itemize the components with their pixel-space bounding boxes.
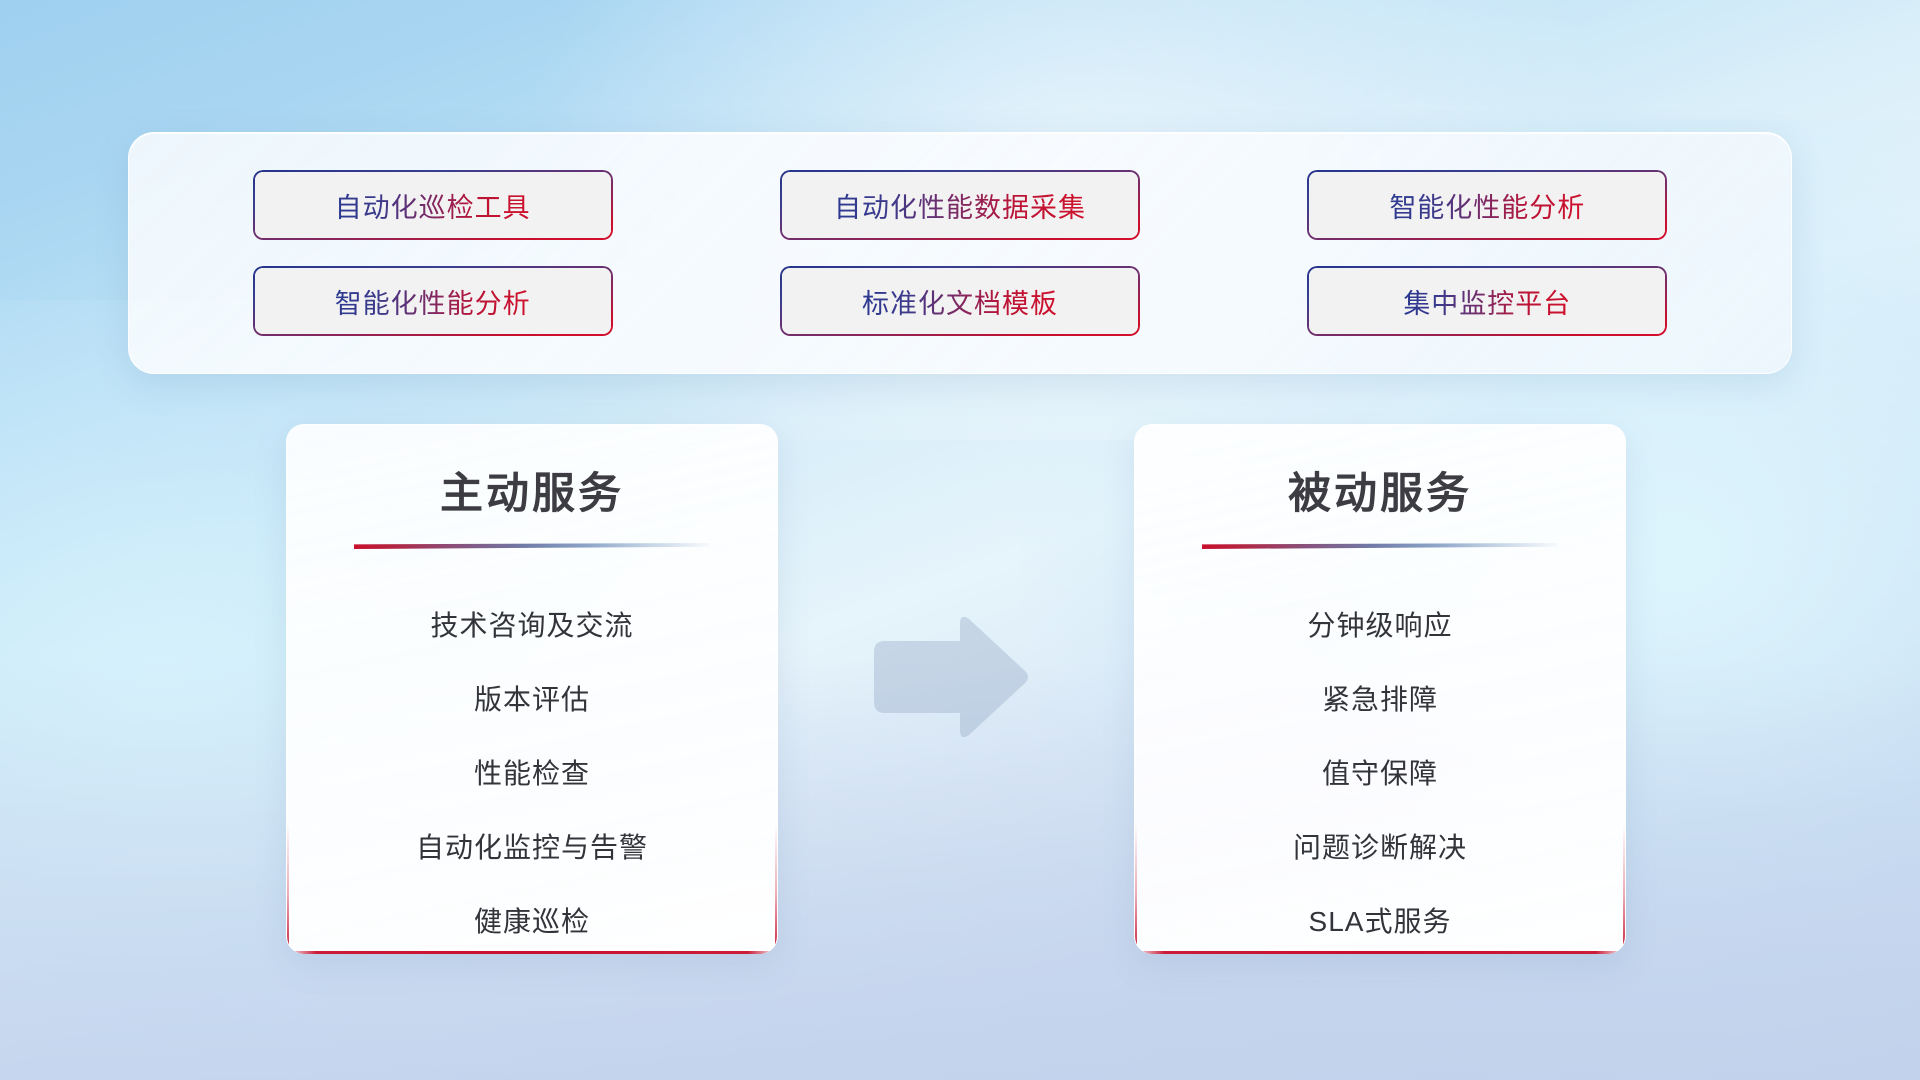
service-card-reactive-rule: [1202, 543, 1558, 549]
capability-pill-1[interactable]: 自动化巡检工具: [253, 170, 613, 240]
card-edge-left: [287, 824, 289, 954]
capability-pill-grid: 自动化巡检工具 自动化性能数据采集 智能化性能分析 智能化性能分析 标准化文档模…: [129, 133, 1791, 373]
capability-pill-6-label: 集中监控平台: [1403, 282, 1571, 321]
service-card-proactive-rule: [354, 543, 710, 549]
card-edge-right: [775, 824, 777, 954]
list-item[interactable]: 自动化监控与告警: [287, 809, 777, 883]
arrow-right-icon: [868, 612, 1032, 742]
service-card-reactive[interactable]: 被动服务 分钟级响应 紧急排障 值守保障 问题诊断解决 SLA式服务: [1134, 424, 1626, 954]
capability-pill-2[interactable]: 自动化性能数据采集: [780, 170, 1140, 240]
capability-pill-5-inner: 标准化文档模板: [782, 268, 1138, 334]
capability-pill-6[interactable]: 集中监控平台: [1307, 266, 1667, 336]
list-item[interactable]: 问题诊断解决: [1135, 809, 1625, 883]
card-edge-right: [1623, 824, 1625, 954]
card-edge-bottom: [1135, 951, 1625, 954]
capability-pill-1-label: 自动化巡检工具: [335, 186, 531, 225]
capability-pill-6-inner: 集中监控平台: [1309, 268, 1665, 334]
list-item[interactable]: SLA式服务: [1135, 883, 1625, 954]
list-item[interactable]: 版本评估: [287, 661, 777, 735]
list-item[interactable]: 分钟级响应: [1135, 587, 1625, 661]
capability-pill-4-label: 智能化性能分析: [335, 282, 531, 321]
capability-pill-5-label: 标准化文档模板: [862, 282, 1058, 321]
service-card-reactive-list: 分钟级响应 紧急排障 值守保障 问题诊断解决 SLA式服务: [1135, 587, 1625, 954]
card-edge-left: [1135, 824, 1137, 954]
capability-pill-2-inner: 自动化性能数据采集: [782, 172, 1138, 238]
service-card-reactive-title: 被动服务: [1135, 459, 1625, 521]
list-item[interactable]: 技术咨询及交流: [287, 587, 777, 661]
capability-pill-3[interactable]: 智能化性能分析: [1307, 170, 1667, 240]
card-edge-bottom: [287, 951, 777, 954]
service-card-proactive[interactable]: 主动服务 技术咨询及交流 版本评估 性能检查 自动化监控与告警 健康巡检: [286, 424, 778, 954]
capability-pill-2-label: 自动化性能数据采集: [834, 186, 1086, 225]
capability-panel: 自动化巡检工具 自动化性能数据采集 智能化性能分析 智能化性能分析 标准化文档模…: [128, 132, 1792, 374]
capability-pill-3-inner: 智能化性能分析: [1309, 172, 1665, 238]
capability-pill-4[interactable]: 智能化性能分析: [253, 266, 613, 336]
capability-pill-4-inner: 智能化性能分析: [255, 268, 611, 334]
service-card-proactive-title: 主动服务: [287, 459, 777, 521]
capability-pill-3-label: 智能化性能分析: [1389, 186, 1585, 225]
list-item[interactable]: 紧急排障: [1135, 661, 1625, 735]
list-item[interactable]: 性能检查: [287, 735, 777, 809]
service-card-proactive-list: 技术咨询及交流 版本评估 性能检查 自动化监控与告警 健康巡检: [287, 587, 777, 954]
list-item[interactable]: 健康巡检: [287, 883, 777, 954]
capability-pill-5[interactable]: 标准化文档模板: [780, 266, 1140, 336]
list-item[interactable]: 值守保障: [1135, 735, 1625, 809]
capability-pill-1-inner: 自动化巡检工具: [255, 172, 611, 238]
